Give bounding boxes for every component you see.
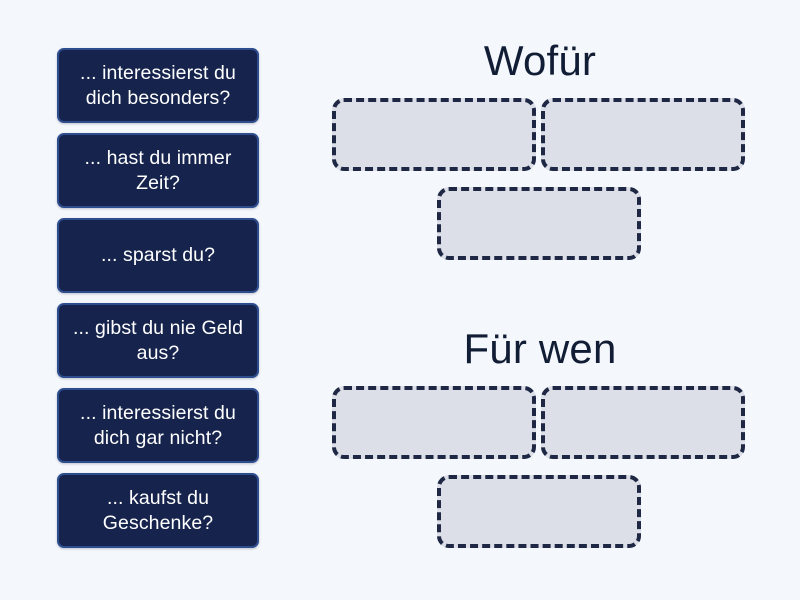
tile-label: ... interessierst du dich besonders? [67,61,249,111]
draggable-tile[interactable]: ... gibst du nie Geld aus? [57,303,259,378]
draggable-tile[interactable]: ... hast du immer Zeit? [57,133,259,208]
dropzone[interactable] [437,187,641,260]
tile-label: ... hast du immer Zeit? [67,146,249,196]
draggable-tiles-list: ... interessierst du dich besonders? ...… [57,48,259,558]
draggable-tile[interactable]: ... interessierst du dich besonders? [57,48,259,123]
dropzone[interactable] [437,475,641,548]
dropzone[interactable] [332,98,536,171]
tile-label: ... gibst du nie Geld aus? [67,316,249,366]
category-group-wofuer: Wofür [300,36,780,268]
tile-label: ... kaufst du Geschenke? [67,486,249,536]
tile-label: ... interessierst du dich gar nicht? [67,401,249,451]
exercise-canvas: ... interessierst du dich besonders? ...… [0,0,800,600]
draggable-tile[interactable]: ... kaufst du Geschenke? [57,473,259,548]
category-title: Für wen [300,324,780,374]
category-group-fuer-wen: Für wen [300,324,780,556]
draggable-tile[interactable]: ... interessierst du dich gar nicht? [57,388,259,463]
draggable-tile[interactable]: ... sparst du? [57,218,259,293]
dropzone[interactable] [541,98,745,171]
tile-label: ... sparst du? [101,243,215,268]
dropzone[interactable] [541,386,745,459]
dropzone-group [300,98,780,268]
dropzone[interactable] [332,386,536,459]
category-title: Wofür [300,36,780,86]
dropzone-group [300,386,780,556]
